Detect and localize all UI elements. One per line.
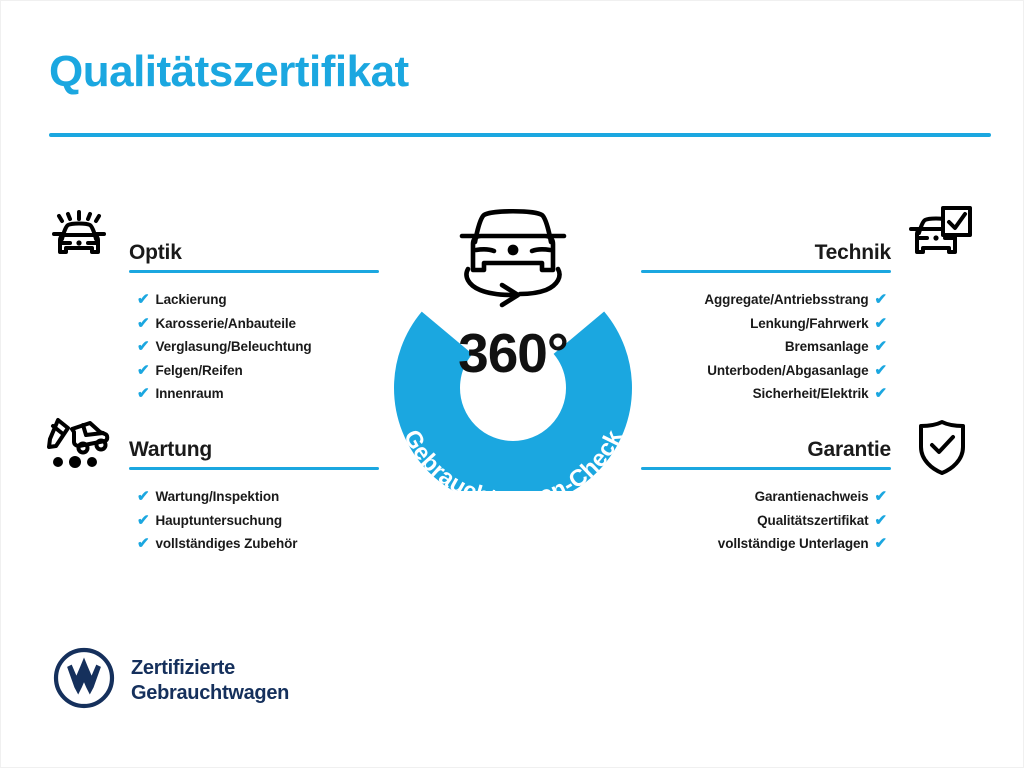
list-item: Qualitätszertifikat✔ xyxy=(641,509,887,533)
list-item-label: Garantienachweis xyxy=(755,489,869,504)
section-wartung: Wartung ✔Wartung/Inspektion ✔Hauptunters… xyxy=(129,428,379,556)
list-item: ✔Innenraum xyxy=(137,382,379,406)
car-checkbox-icon xyxy=(907,205,973,270)
vw-logo-text: Zertifizierte Gebrauchtwagen xyxy=(131,656,289,706)
check-icon: ✔ xyxy=(875,288,887,312)
section-title-optik: Optik xyxy=(129,241,182,265)
list-item: ✔Wartung/Inspektion xyxy=(137,485,379,509)
list-item: ✔Verglasung/Beleuchtung xyxy=(137,335,379,359)
section-head: Wartung xyxy=(129,428,379,470)
check-icon: ✔ xyxy=(137,312,149,336)
section-title-wartung: Wartung xyxy=(129,438,212,462)
list-item-label: Lackierung xyxy=(155,292,226,307)
vw-logo-text-line1: Zertifizierte xyxy=(131,656,289,681)
section-head: Technik xyxy=(641,231,891,273)
list-item-label: Lenkung/Fahrwerk xyxy=(750,316,868,331)
check-icon: ✔ xyxy=(137,509,149,533)
section-divider xyxy=(641,467,891,470)
list-item: Bremsanlage✔ xyxy=(641,335,887,359)
list-item-label: Bremsanlage xyxy=(785,339,869,354)
check-icon: ✔ xyxy=(137,288,149,312)
check-icon: ✔ xyxy=(137,359,149,383)
list-item-label: Verglasung/Beleuchtung xyxy=(155,339,311,354)
list-item-label: Felgen/Reifen xyxy=(155,363,242,378)
check-icon: ✔ xyxy=(137,485,149,509)
certificate-page: Qualitätszertifikat xyxy=(0,0,1024,768)
list-item-label: Qualitätszertifikat xyxy=(757,513,868,528)
check-icon: ✔ xyxy=(875,532,887,556)
badge-center-label: 360° xyxy=(372,321,654,385)
car-rotation-icon xyxy=(462,211,564,305)
check-icon: ✔ xyxy=(875,359,887,383)
section-optik: Optik ✔Lackierung ✔Karosserie/Anbauteile… xyxy=(129,231,379,406)
shield-check-icon xyxy=(913,416,971,483)
check-icon: ✔ xyxy=(875,335,887,359)
list-item-label: vollständige Unterlagen xyxy=(718,536,869,551)
checklist-wartung: ✔Wartung/Inspektion ✔Hauptuntersuchung ✔… xyxy=(129,470,379,556)
list-item-label: Karosserie/Anbauteile xyxy=(155,316,295,331)
list-item: Aggregate/Antriebsstrang✔ xyxy=(641,288,887,312)
title-divider xyxy=(49,133,991,137)
list-item: vollständige Unterlagen✔ xyxy=(641,532,887,556)
section-head: Garantie xyxy=(641,428,891,470)
check-icon: ✔ xyxy=(875,485,887,509)
check-icon: ✔ xyxy=(137,532,149,556)
section-technik: Technik Aggregate/Antriebsstrang✔ Lenkun… xyxy=(641,231,891,406)
check-icon: ✔ xyxy=(875,509,887,533)
vw-brand-block: Zertifizierte Gebrauchtwagen xyxy=(53,647,289,714)
section-head: Optik xyxy=(129,231,379,273)
list-item: ✔Hauptuntersuchung xyxy=(137,509,379,533)
list-item: ✔Lackierung xyxy=(137,288,379,312)
list-item-label: Unterboden/Abgasanlage xyxy=(707,363,868,378)
check-icon: ✔ xyxy=(875,312,887,336)
list-item: Garantienachweis✔ xyxy=(641,485,887,509)
section-divider xyxy=(129,270,379,273)
list-item: ✔Karosserie/Anbauteile xyxy=(137,312,379,336)
list-item-label: Sicherheit/Elektrik xyxy=(753,386,869,401)
checklist-technik: Aggregate/Antriebsstrang✔ Lenkung/Fahrwe… xyxy=(641,273,891,406)
check-icon: ✔ xyxy=(137,382,149,406)
page-title: Qualitätszertifikat xyxy=(49,49,409,95)
vw-logo-icon xyxy=(53,647,115,714)
check-icon: ✔ xyxy=(137,335,149,359)
section-title-garantie: Garantie xyxy=(807,438,891,462)
wrench-car-icon xyxy=(45,415,111,478)
section-divider xyxy=(129,467,379,470)
checklist-optik: ✔Lackierung ✔Karosserie/Anbauteile ✔Verg… xyxy=(129,273,379,406)
vw-logo-text-line2: Gebrauchtwagen xyxy=(131,681,289,706)
list-item: Unterboden/Abgasanlage✔ xyxy=(641,359,887,383)
list-item-label: Wartung/Inspektion xyxy=(155,489,279,504)
list-item-label: Aggregate/Antriebsstrang xyxy=(704,292,868,307)
car-shine-icon xyxy=(48,204,110,271)
list-item: ✔Felgen/Reifen xyxy=(137,359,379,383)
list-item-label: Hauptuntersuchung xyxy=(155,513,282,528)
section-garantie: Garantie Garantienachweis✔ Qualitätszert… xyxy=(641,428,891,556)
check-icon: ✔ xyxy=(875,382,887,406)
list-item-label: vollständiges Zubehör xyxy=(155,536,297,551)
badge-360-check: Gebrauchtwagen-Check 360° xyxy=(372,193,654,491)
section-title-technik: Technik xyxy=(815,241,891,265)
list-item: Lenkung/Fahrwerk✔ xyxy=(641,312,887,336)
list-item: Sicherheit/Elektrik✔ xyxy=(641,382,887,406)
checklist-garantie: Garantienachweis✔ Qualitätszertifikat✔ v… xyxy=(641,470,891,556)
section-divider xyxy=(641,270,891,273)
list-item-label: Innenraum xyxy=(155,386,223,401)
list-item: ✔vollständiges Zubehör xyxy=(137,532,379,556)
